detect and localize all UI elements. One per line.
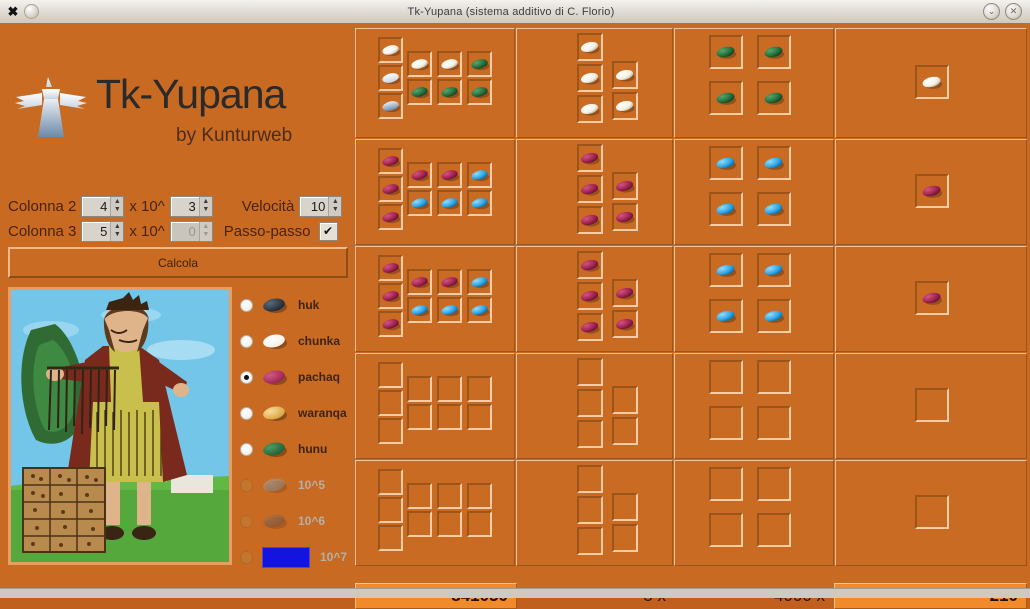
yupana-cell[interactable] [612,310,638,338]
bean-token-pachaq [580,181,601,197]
stepper-arrows-icon[interactable]: ▲▼ [328,197,341,216]
bean-token-pachaq [381,260,401,276]
yupana-cell[interactable] [577,389,603,417]
yupana-cell[interactable] [757,35,791,69]
yupana-cell[interactable] [407,297,432,323]
yupana-panel-r2-c2[interactable] [516,139,673,245]
yupana-cell[interactable] [915,388,949,422]
legend-color-swatch [262,547,310,568]
bean-token-pachaq [440,167,460,183]
yupana-panel-r2-c3[interactable] [674,139,834,245]
yupana-cell[interactable] [378,255,403,281]
yupana-cell[interactable] [437,269,462,295]
yupana-cell[interactable] [612,524,638,552]
stepper-arrows-icon[interactable]: ▲▼ [110,197,123,216]
yupana-cell[interactable] [407,483,432,509]
yupana-cell[interactable] [709,360,743,394]
yupana-cell[interactable] [757,467,791,501]
yupana-panel-r4-c4[interactable] [835,353,1027,459]
colonna3-value-stepper[interactable]: 5 ▲▼ [81,221,124,242]
bean-token-chunka [410,56,430,72]
yupana-cell[interactable] [467,269,492,295]
yupana-cell[interactable] [467,79,492,105]
bean-token-chunka [580,101,601,117]
branding-block: Tk-Yupana by Kunturweb [8,73,344,143]
legend-radio-hunu[interactable] [240,443,253,456]
yupana-cell[interactable] [407,376,432,402]
yupana-cell[interactable] [612,386,638,414]
yupana-panel-r3-c1[interactable] [355,246,515,352]
bean-token-pachaq [580,257,601,273]
yupana-cell[interactable] [437,297,462,323]
bean-token-pachaq [921,290,943,306]
yupana-cell[interactable] [407,190,432,216]
bean-token-pachaq [381,153,401,169]
yupana-cell[interactable] [437,483,462,509]
yupana-cell[interactable] [467,190,492,216]
legend-row-chunka[interactable]: chunka [240,323,350,359]
quipucamayoc-illustration [8,287,232,565]
yupana-cell[interactable] [709,513,743,547]
yupana-cell[interactable] [378,311,403,337]
legend-row-10-7: 10^7 [240,539,350,575]
yupana-cell[interactable] [757,406,791,440]
yupana-panel-r1-c1[interactable] [355,28,515,138]
bean-token-chunka [615,67,636,83]
legend-label: waranqa [298,406,347,420]
yupana-cell[interactable] [437,376,462,402]
page-subtitle: by Kunturweb [176,125,292,147]
bean-icon-waranqa [262,405,288,421]
window-shade-button[interactable]: ⌄ [983,3,1000,20]
bean-token-chunka [381,98,401,114]
bean-legend: hukchunkapachaqwaranqahunu10^510^610^7 [240,287,350,567]
bean-token-hunu [715,90,737,106]
yupana-cell[interactable] [577,144,603,172]
bean-token-hunu [763,90,785,106]
yupana-cell[interactable] [378,37,403,63]
yupana-cell[interactable] [407,79,432,105]
yupana-cell[interactable] [407,162,432,188]
yupana-cell[interactable] [757,192,791,226]
bean-icon-huk [262,297,288,313]
bean-token-huk2 [470,195,490,211]
yupana-panel-r2-c1[interactable] [355,139,515,245]
yupana-cell[interactable] [437,51,462,77]
bean-token-huk2 [470,274,490,290]
yupana-cell[interactable] [467,511,492,537]
yupana-cell[interactable] [378,418,403,444]
yupana-cell[interactable] [437,511,462,537]
legend-radio-10-7 [240,551,253,564]
yupana-cell[interactable] [577,175,603,203]
yupana-cell[interactable] [915,495,949,529]
yupana-cell[interactable] [612,172,638,200]
yupana-panel-r4-c1[interactable] [355,353,515,459]
yupana-cell[interactable] [709,35,743,69]
yupana-cell[interactable] [757,299,791,333]
yupana-panel-r3-c4[interactable] [835,246,1027,352]
legend-label: 10^6 [298,514,325,528]
yupana-cell[interactable] [757,146,791,180]
yupana-cell[interactable] [709,299,743,333]
yupana-cell[interactable] [709,253,743,287]
bean-token-huk2 [763,201,785,217]
form-row-colonna3: Colonna 3 5 ▲▼ x 10^ 0 ▲▼ Passo-passo ✔ [8,220,338,242]
bean-token-pachaq [410,167,430,183]
bean-icon-hunu [262,441,288,457]
yupana-panel-r4-c2[interactable] [516,353,673,459]
colonna2-exponent-stepper[interactable]: 3 ▲▼ [170,196,213,217]
bean-token-pachaq [381,209,401,225]
window-title: Tk-Yupana (sistema additivo di C. Florio… [39,6,983,18]
bean-token-huk2 [470,302,490,318]
colonna2-value: 4 [82,197,110,216]
illustration-svg [11,290,229,562]
passo-passo-label: Passo-passo [224,223,311,240]
yupana-cell[interactable] [577,251,603,279]
yupana-cell[interactable] [467,483,492,509]
yupana-panel-r3-c2[interactable] [516,246,673,352]
legend-radio-waranqa[interactable] [240,407,253,420]
legend-label: 10^5 [298,478,325,492]
left-panel: Tk-Yupana by Kunturweb Colonna 2 4 ▲▼ x … [0,25,352,595]
yupana-cell[interactable] [407,51,432,77]
yupana-cell[interactable] [378,390,403,416]
colonna3-exponent-stepper: 0 ▲▼ [170,221,213,242]
yupana-cell[interactable] [915,281,949,315]
yupana-cell[interactable] [612,61,638,89]
colonna2-label: Colonna 2 [8,198,76,215]
yupana-cell[interactable] [577,527,603,555]
legend-label: pachaq [298,370,340,384]
bean-token-chunka [381,70,401,86]
yupana-cell[interactable] [577,206,603,234]
bean-token-pachaq [580,319,601,335]
yupana-panel-r4-c3[interactable] [674,353,834,459]
yupana-cell[interactable] [757,513,791,547]
page-title: Tk-Yupana [96,71,285,118]
bean-token-hunu [470,84,490,100]
legend-radio-chunka[interactable] [240,335,253,348]
yupana-cell[interactable] [915,65,949,99]
yupana-panel-r3-c3[interactable] [674,246,834,352]
legend-label: 10^7 [320,550,347,564]
bean-token-huk2 [763,308,785,324]
yupana-cell[interactable] [709,81,743,115]
colonna3-label: Colonna 3 [8,223,76,240]
legend-row-pachaq[interactable]: pachaq [240,359,350,395]
bean-token-huk2 [715,308,737,324]
yupana-cell[interactable] [437,404,462,430]
bean-token-pachaq [580,212,601,228]
yupana-panel-r5-c4[interactable] [835,460,1027,566]
bean-token-huk2 [715,262,737,278]
yupana-cell[interactable] [577,95,603,123]
bean-icon-chunka [262,333,288,349]
bean-token-chunka [440,56,460,72]
yupana-cell[interactable] [612,493,638,521]
bean-token-hunu [763,44,785,60]
bean-token-huk2 [470,167,490,183]
bean-token-pachaq [615,178,636,194]
bean-token-pachaq [615,209,636,225]
yupana-cell[interactable] [612,279,638,307]
yupana-cell[interactable] [378,283,403,309]
yupana-cell[interactable] [437,162,462,188]
yupana-cell[interactable] [709,146,743,180]
colonna3-value: 5 [82,222,110,241]
bean-token-huk2 [440,302,460,318]
bean-token-huk2 [763,262,785,278]
yupana-cell[interactable] [467,51,492,77]
colonna2-exponent-value: 3 [171,197,199,216]
legend-radio-10-6 [240,515,253,528]
yupana-cell[interactable] [577,33,603,61]
bean-icon-pachaq [262,369,288,385]
stepper-arrows-icon[interactable]: ▲▼ [199,197,212,216]
calcola-button[interactable]: Calcola [8,247,348,278]
yupana-cell[interactable] [378,176,403,202]
yupana-cell[interactable] [407,404,432,430]
legend-row-huk[interactable]: huk [240,287,350,323]
title-bar: ✖ Tk-Yupana (sistema additivo di C. Flor… [0,0,1030,24]
yupana-cell[interactable] [378,65,403,91]
bean-token-huk2 [440,195,460,211]
yupana-cell[interactable] [378,497,403,523]
title-bar-right-buttons: ⌄ ✕ [983,3,1030,20]
stepper-arrows-icon[interactable]: ▲▼ [110,222,123,241]
yupana-cell[interactable] [612,203,638,231]
bean-token-hunu [715,44,737,60]
bean-icon-10-6 [262,513,288,529]
window-close-icon[interactable]: ✖ [6,5,20,19]
bean-token-huk2 [715,155,737,171]
title-bar-left-buttons: ✖ [0,4,39,19]
yupana-panel-r1-c4[interactable] [835,28,1027,138]
yupana-cell[interactable] [757,81,791,115]
legend-radio-10-5 [240,479,253,492]
yupana-cell[interactable] [437,79,462,105]
legend-row-hunu[interactable]: hunu [240,431,350,467]
bean-token-pachaq [921,183,943,199]
yupana-cell[interactable] [709,406,743,440]
colonna2-value-stepper[interactable]: 4 ▲▼ [81,196,124,217]
yupana-cell[interactable] [378,525,403,551]
legend-label: huk [298,298,319,312]
colonna3-times-label: x 10^ [129,223,164,240]
bean-token-pachaq [580,150,601,166]
main-content: Tk-Yupana by Kunturweb Colonna 2 4 ▲▼ x … [0,25,1030,595]
bean-token-pachaq [615,285,636,301]
yupana-cell[interactable] [378,93,403,119]
window-menu-icon[interactable] [24,4,39,19]
yupana-cell[interactable] [577,358,603,386]
yupana-cell[interactable] [577,465,603,493]
legend-row-10-5: 10^5 [240,467,350,503]
bean-token-hunu [470,56,490,72]
yupana-panel-r1-c2[interactable] [516,28,673,138]
bean-token-pachaq [410,274,430,290]
velocita-stepper[interactable]: 10 ▲▼ [299,196,342,217]
yupana-cell[interactable] [915,174,949,208]
yupana-cell[interactable] [612,417,638,445]
legend-radio-huk[interactable] [240,299,253,312]
legend-label: chunka [298,334,340,348]
legend-radio-pachaq[interactable] [240,371,253,384]
stepper-arrows-icon: ▲▼ [199,222,212,241]
yupana-panel-r5-c1[interactable] [355,460,515,566]
yupana-cell[interactable] [378,148,403,174]
bean-token-huk2 [715,201,737,217]
bean-token-hunu [440,84,460,100]
yupana-panel-r1-c3[interactable] [674,28,834,138]
bean-token-huk2 [410,302,430,318]
yupana-grid [355,28,1027,592]
yupana-cell[interactable] [467,162,492,188]
bean-token-huk2 [763,155,785,171]
velocita-value: 10 [300,197,328,216]
yupana-cell[interactable] [467,404,492,430]
yupana-cell[interactable] [407,269,432,295]
yupana-panel-r5-c2[interactable] [516,460,673,566]
bean-token-chunka [580,70,601,86]
yupana-cell[interactable] [757,360,791,394]
yupana-cell[interactable] [577,282,603,310]
legend-label: hunu [298,442,327,456]
bean-token-hunu [410,84,430,100]
yupana-cell[interactable] [709,467,743,501]
colonna3-exponent-value: 0 [171,222,199,241]
yupana-cell[interactable] [577,496,603,524]
application-window: ✖ Tk-Yupana (sistema additivo di C. Flor… [0,0,1030,597]
yupana-cell[interactable] [407,511,432,537]
bean-icon-10-5 [262,477,288,493]
legend-row-waranqa[interactable]: waranqa [240,395,350,431]
yupana-panel-r5-c3[interactable] [674,460,834,566]
bean-token-pachaq [580,288,601,304]
window-close-button[interactable]: ✕ [1005,3,1022,20]
colonna2-times-label: x 10^ [129,198,164,215]
bean-token-chunka [615,98,636,114]
bean-token-pachaq [381,288,401,304]
yupana-cell[interactable] [437,190,462,216]
bean-token-chunka [580,39,601,55]
bean-token-pachaq [440,274,460,290]
yupana-cell[interactable] [378,362,403,388]
bean-token-chunka [921,74,943,90]
yupana-cell[interactable] [467,376,492,402]
yupana-cell[interactable] [577,313,603,341]
bean-token-pachaq [615,316,636,332]
form-row-colonna2: Colonna 2 4 ▲▼ x 10^ 3 ▲▼ Velocità 10 ▲▼ [8,195,347,217]
bean-token-chunka [381,42,401,58]
yupana-cell[interactable] [577,420,603,448]
yupana-cell[interactable] [378,469,403,495]
yupana-cell[interactable] [378,204,403,230]
yupana-cell[interactable] [467,297,492,323]
bean-token-huk2 [410,195,430,211]
passo-passo-checkbox[interactable]: ✔ [319,222,338,241]
velocita-label: Velocità [242,198,295,215]
yupana-panel-r2-c4[interactable] [835,139,1027,245]
condor-logo-icon [12,75,90,143]
bean-token-pachaq [381,316,401,332]
bean-token-pachaq [381,181,401,197]
yupana-cell[interactable] [709,192,743,226]
yupana-cell[interactable] [757,253,791,287]
yupana-cell[interactable] [612,92,638,120]
legend-row-10-6: 10^6 [240,503,350,539]
yupana-cell[interactable] [577,64,603,92]
